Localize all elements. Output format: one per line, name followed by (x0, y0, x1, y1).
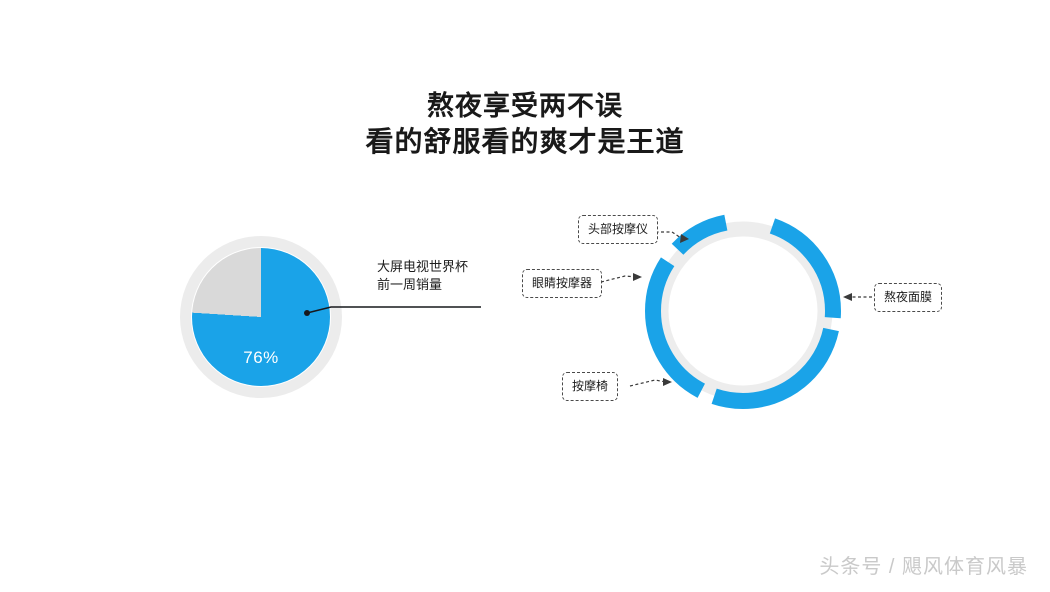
watermark: 头条号 / 飓风体育风暴 (819, 554, 1028, 580)
donut-svg (645, 213, 841, 409)
connector-eye-massager (601, 276, 636, 282)
pie-slices: 76% (192, 248, 330, 386)
title-line-1: 熬夜享受两不误 (0, 88, 1050, 124)
pie-callout-line-1: 大屏电视世界杯 (377, 258, 517, 276)
connector-arrow-eye-massager (633, 273, 642, 281)
callout-eye-massager[interactable]: 眼睛按摩器 (522, 269, 602, 298)
callout-night-mask[interactable]: 熬夜面膜 (874, 283, 942, 312)
slide-canvas: 熬夜享受两不误 看的舒服看的爽才是王道 76% 大屏电视世界杯 前一周销量 (0, 0, 1050, 592)
connector-arrow-night-mask (843, 293, 852, 301)
page-title: 熬夜享受两不误 看的舒服看的爽才是王道 (0, 88, 1050, 160)
pie-percent-label: 76% (192, 348, 330, 368)
pie-callout-text: 大屏电视世界杯 前一周销量 (377, 258, 517, 294)
pie-chart: 76% (180, 236, 342, 398)
callout-massage-chair[interactable]: 按摩椅 (562, 372, 618, 401)
donut-chart (645, 213, 841, 409)
pie-callout-line-2: 前一周销量 (377, 276, 517, 294)
callout-head-massager[interactable]: 头部按摩仪 (578, 215, 658, 244)
donut-track-ring (661, 229, 825, 393)
title-line-2: 看的舒服看的爽才是王道 (0, 124, 1050, 160)
